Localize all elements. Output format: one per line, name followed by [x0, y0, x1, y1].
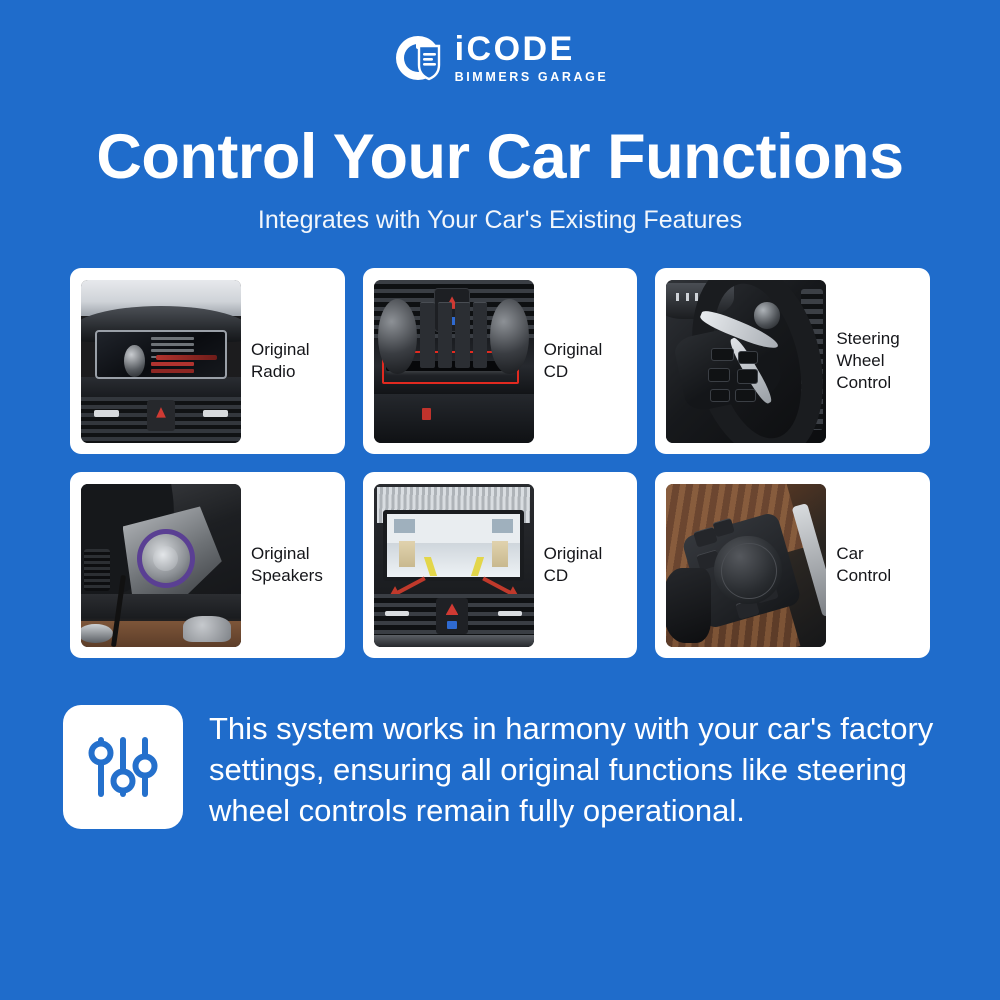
- feature-card-original-cd-camera[interactable]: Original CD: [363, 472, 638, 658]
- feature-card-label: Original CD: [544, 543, 627, 587]
- sliders-icon: [86, 730, 160, 804]
- original-speakers-photo: [81, 484, 241, 647]
- brand-header: iCODE BIMMERS GARAGE: [0, 0, 1000, 84]
- original-radio-photo: [81, 280, 241, 443]
- feature-card-original-speakers[interactable]: Original Speakers: [70, 472, 345, 658]
- title-block: Control Your Car Functions Integrates wi…: [0, 124, 1000, 235]
- feature-card-car-control[interactable]: Car Control: [655, 472, 930, 658]
- brand-name: iCODE: [455, 32, 609, 66]
- page-subtitle: Integrates with Your Car's Existing Feat…: [0, 206, 1000, 235]
- feature-card-steering-wheel-control[interactable]: Steering Wheel Control: [655, 268, 930, 454]
- feature-card-label: Steering Wheel Control: [836, 328, 919, 394]
- feature-card-label: Original Radio: [251, 339, 334, 383]
- car-control-idrive-photo: [666, 484, 826, 647]
- brand-tagline: BIMMERS GARAGE: [455, 71, 609, 84]
- feature-card-label: Original CD: [544, 339, 627, 383]
- feature-card-grid: Original Radio Original CD: [70, 268, 930, 658]
- footer-section: This system works in harmony with your c…: [60, 705, 940, 832]
- page-title: Control Your Car Functions: [0, 124, 1000, 190]
- original-cd-photo: [374, 280, 534, 443]
- brand-logo: iCODE BIMMERS GARAGE: [392, 32, 609, 84]
- icode-shield-logo-icon: [392, 32, 444, 84]
- feature-card-label: Original Speakers: [251, 543, 334, 587]
- sliders-icon-box: [63, 705, 183, 829]
- steering-wheel-control-photo: [666, 280, 826, 443]
- feature-card-label: Car Control: [836, 543, 919, 587]
- feature-card-original-radio[interactable]: Original Radio: [70, 268, 345, 454]
- footer-description: This system works in harmony with your c…: [209, 705, 940, 832]
- original-cd-reverse-camera-photo: [374, 484, 534, 647]
- feature-card-original-cd[interactable]: Original CD: [363, 268, 638, 454]
